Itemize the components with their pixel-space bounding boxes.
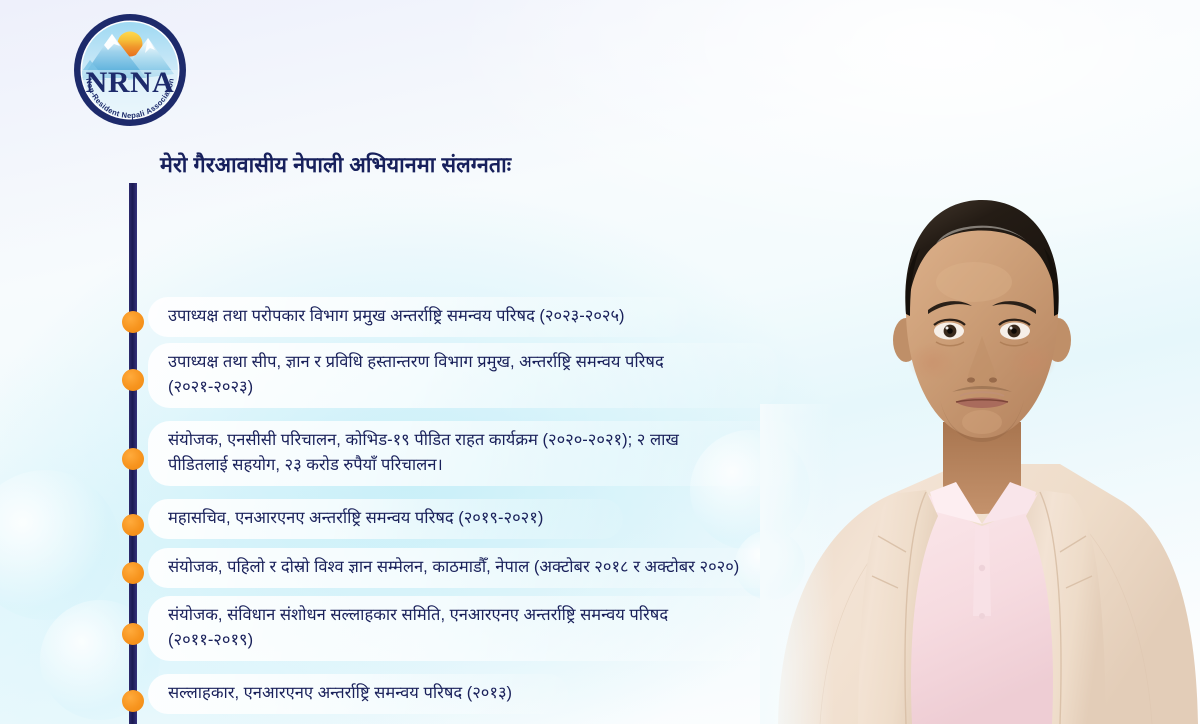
jacket-lapel-left — [858, 490, 938, 724]
forehead-highlight — [936, 262, 1012, 302]
timeline-item-text: उपाध्यक्ष तथा सीप, ज्ञान र प्रविधि हस्ता… — [168, 350, 758, 400]
eyebrow-left — [928, 301, 972, 314]
timeline-item-pill: संयोजक, संविधान संशोधन सल्लाहकार समिति, … — [148, 596, 798, 661]
timeline-dot-icon — [122, 514, 144, 536]
jacket-texture — [820, 520, 1152, 724]
cheek-left — [908, 342, 956, 382]
timeline-item-text: संयोजक, एनसीसी परिचालन, कोभिड-१९ पीडित र… — [168, 428, 778, 478]
poster-canvas: NRNA Non-Resident Nepali Association मेर… — [0, 0, 1200, 724]
timeline-item-pill: संयोजक, एनसीसी परिचालन, कोभिड-१९ पीडित र… — [148, 421, 798, 486]
chin-highlight — [962, 410, 1002, 434]
shirt-button — [979, 613, 985, 619]
timeline-item-pill: उपाध्यक्ष तथा परोपकार विभाग प्रमुख अन्तर… — [148, 297, 688, 337]
pupil-right — [1011, 328, 1017, 334]
shirt-button — [979, 565, 985, 571]
timeline-dot-icon — [122, 623, 144, 645]
shirt-placket — [973, 526, 991, 616]
timeline-dot-icon — [122, 690, 144, 712]
under-eye-right — [1000, 342, 1028, 346]
hair-sideburn-left — [906, 248, 920, 316]
lapel-seams — [872, 492, 1092, 724]
mouth-line — [956, 400, 1008, 402]
pupil-left — [947, 328, 953, 334]
beard-shadow — [940, 400, 1024, 442]
timeline-item-pill: सल्लाहकार, एनआरएनए अन्तर्राष्ट्रि समन्वय… — [148, 674, 568, 714]
neck — [943, 422, 1021, 514]
timeline-item-text: महासचिव, एनआरएनए अन्तर्राष्ट्रि समन्वय प… — [168, 506, 603, 531]
hair-grey-highlight — [936, 226, 1032, 246]
nose — [968, 336, 996, 388]
nostril-right — [989, 377, 997, 382]
portrait-illustration-icon — [760, 164, 1200, 724]
timeline-item-text: संयोजक, संविधान संशोधन सल्लाहकार समिति, … — [168, 603, 778, 653]
timeline-item-text: सल्लाहकार, एनआरएनए अन्तर्राष्ट्रि समन्वय… — [168, 681, 548, 706]
moustache-shadow — [952, 386, 1012, 392]
eyelid-right — [999, 320, 1030, 325]
shirt — [907, 494, 1060, 724]
timeline-item-pill: उपाध्यक्ष तथा सीप, ज्ञान र प्रविधि हस्ता… — [148, 343, 778, 408]
iris-left — [944, 325, 957, 338]
eyebrow-right — [992, 301, 1036, 314]
eyelid-left — [934, 320, 965, 325]
timeline-dot-icon — [122, 562, 144, 584]
nostril-left — [967, 377, 975, 382]
eye-glint-left — [946, 327, 949, 330]
timeline-dot-icon — [122, 448, 144, 470]
timeline-dot-icon — [122, 311, 144, 333]
hair-sideburn-right — [1044, 248, 1058, 316]
under-eye-left — [936, 342, 964, 346]
eye-white-right — [1000, 323, 1030, 340]
iris-right — [1008, 325, 1021, 338]
shirt-collar-right — [982, 482, 1036, 524]
portrait-photo — [760, 164, 1200, 724]
lips — [956, 398, 1008, 409]
eye-white-left — [934, 323, 964, 340]
suit-jacket — [778, 464, 1198, 724]
timeline-items: उपाध्यक्ष तथा परोपकार विभाग प्रमुख अन्तर… — [0, 0, 820, 724]
shirt-collar-left — [930, 482, 982, 524]
eye-glint-right — [1010, 327, 1013, 330]
timeline-dot-icon — [122, 369, 144, 391]
ear-left — [893, 318, 919, 362]
upper-lip — [960, 392, 1004, 396]
timeline-item-pill: महासचिव, एनआरएनए अन्तर्राष्ट्रि समन्वय प… — [148, 499, 623, 539]
jacket-lapel-right — [1026, 490, 1106, 724]
ear-right — [1045, 318, 1071, 362]
timeline-item-text: संयोजक, पहिलो र दोस्रो विश्व ज्ञान सम्मे… — [168, 555, 758, 580]
hair — [905, 200, 1058, 314]
face — [906, 208, 1058, 438]
timeline-item-text: उपाध्यक्ष तथा परोपकार विभाग प्रमुख अन्तर… — [168, 304, 668, 329]
cheek-right — [1008, 342, 1056, 382]
timeline-item-pill: संयोजक, पहिलो र दोस्रो विश्व ज्ञान सम्मे… — [148, 548, 778, 588]
